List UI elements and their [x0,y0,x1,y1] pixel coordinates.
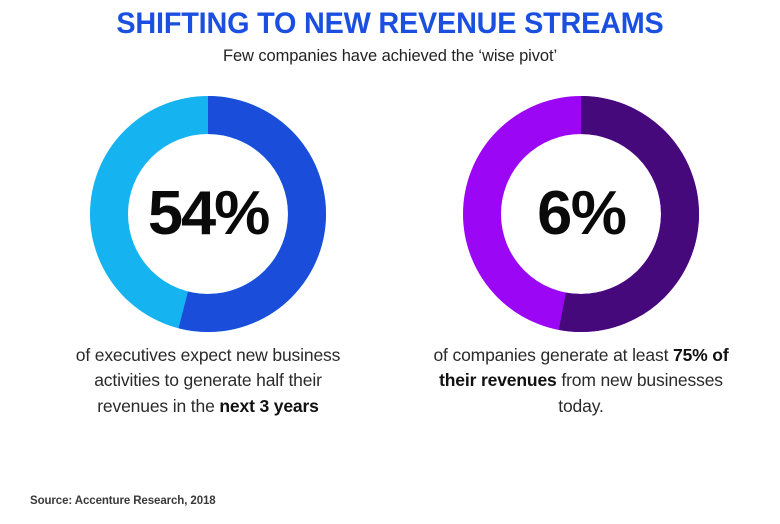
donut-chart-54: 54% [90,96,326,332]
panel-executives: 54% of executives expect new business ac… [58,93,358,393]
donut-svg-54 [90,96,326,332]
caption-text-prefix-right: of companies generate at least [433,345,673,365]
caption-text-bold-left: next 3 years [219,396,318,416]
caption-executives: of executives expect new business activi… [58,343,358,419]
source-note: Source: Accenture Research, 2018 [30,495,216,507]
panel-companies: 6% of companies generate at least 75% of… [431,93,731,393]
donut-chart-6: 6% [463,96,699,332]
page-title: SHIFTING TO NEW REVENUE STREAMS [16,8,765,40]
page-subtitle: Few companies have achieved the ‘wise pi… [0,47,780,66]
caption-companies: of companies generate at least 75% of th… [431,343,731,419]
caption-text-suffix-right: from new businesses today. [557,370,723,415]
donut-panels: 54% of executives expect new business ac… [0,93,780,393]
header: SHIFTING TO NEW REVENUE STREAMS Few comp… [0,8,780,66]
infographic-canvas: SHIFTING TO NEW REVENUE STREAMS Few comp… [0,0,780,524]
donut-svg-6 [463,96,699,332]
